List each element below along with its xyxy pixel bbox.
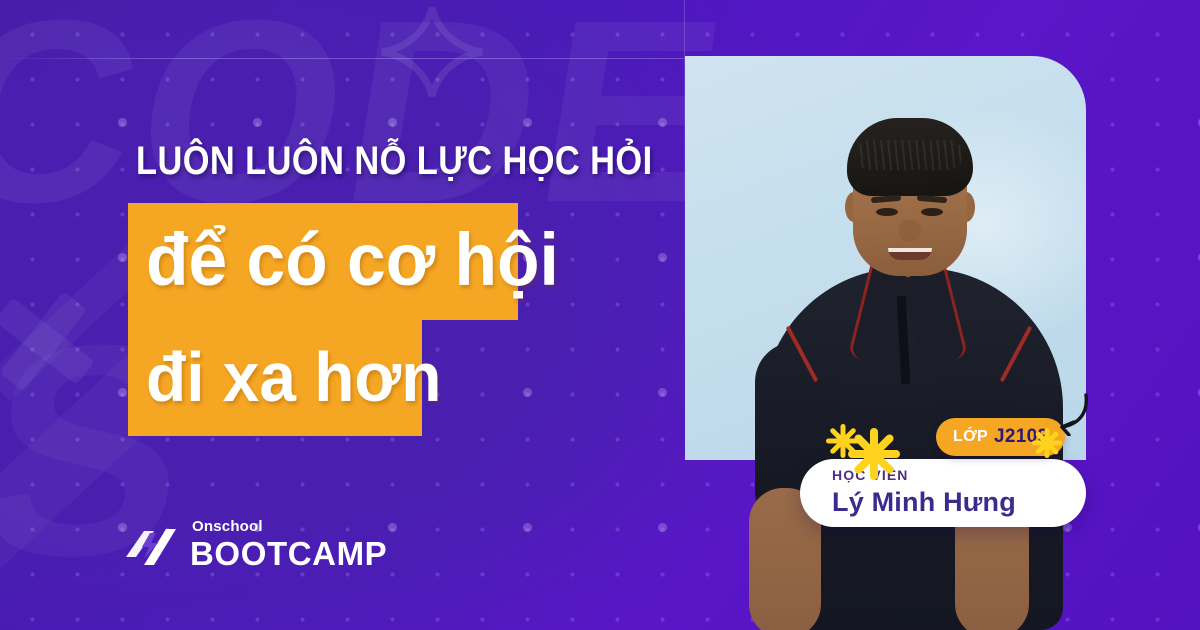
promo-banner: CODE S (0, 0, 1200, 630)
brand-logo[interactable]: Onschool BOOTCAMP (124, 519, 387, 570)
starburst-icon-large (848, 428, 900, 485)
page-title: LUÔN LUÔN NỖ LỰC HỌC HỎI (136, 141, 653, 181)
student-name-label: Lý Minh Hưng (832, 489, 1086, 516)
curved-arrow-icon (1045, 392, 1091, 441)
class-prefix-label: LỚP (953, 428, 988, 446)
student-portrait-illustration (685, 56, 1086, 630)
brand-logo-text: Onschool BOOTCAMP (190, 519, 387, 570)
brand-main-label: BOOTCAMP (190, 537, 387, 570)
highlight-box-2: đi xa hơn (128, 320, 422, 436)
student-photo (685, 56, 1086, 460)
brand-sub-label: Onschool (192, 519, 387, 534)
highlight-text-1: để có cơ hội (146, 223, 559, 297)
highlight-box-1: để có cơ hội (128, 203, 518, 320)
student-name-card: HỌC VIÊN Lý Minh Hưng (800, 459, 1086, 527)
highlight-text-2: đi xa hơn (146, 342, 441, 412)
lightning-slash-logo-icon (124, 521, 178, 569)
